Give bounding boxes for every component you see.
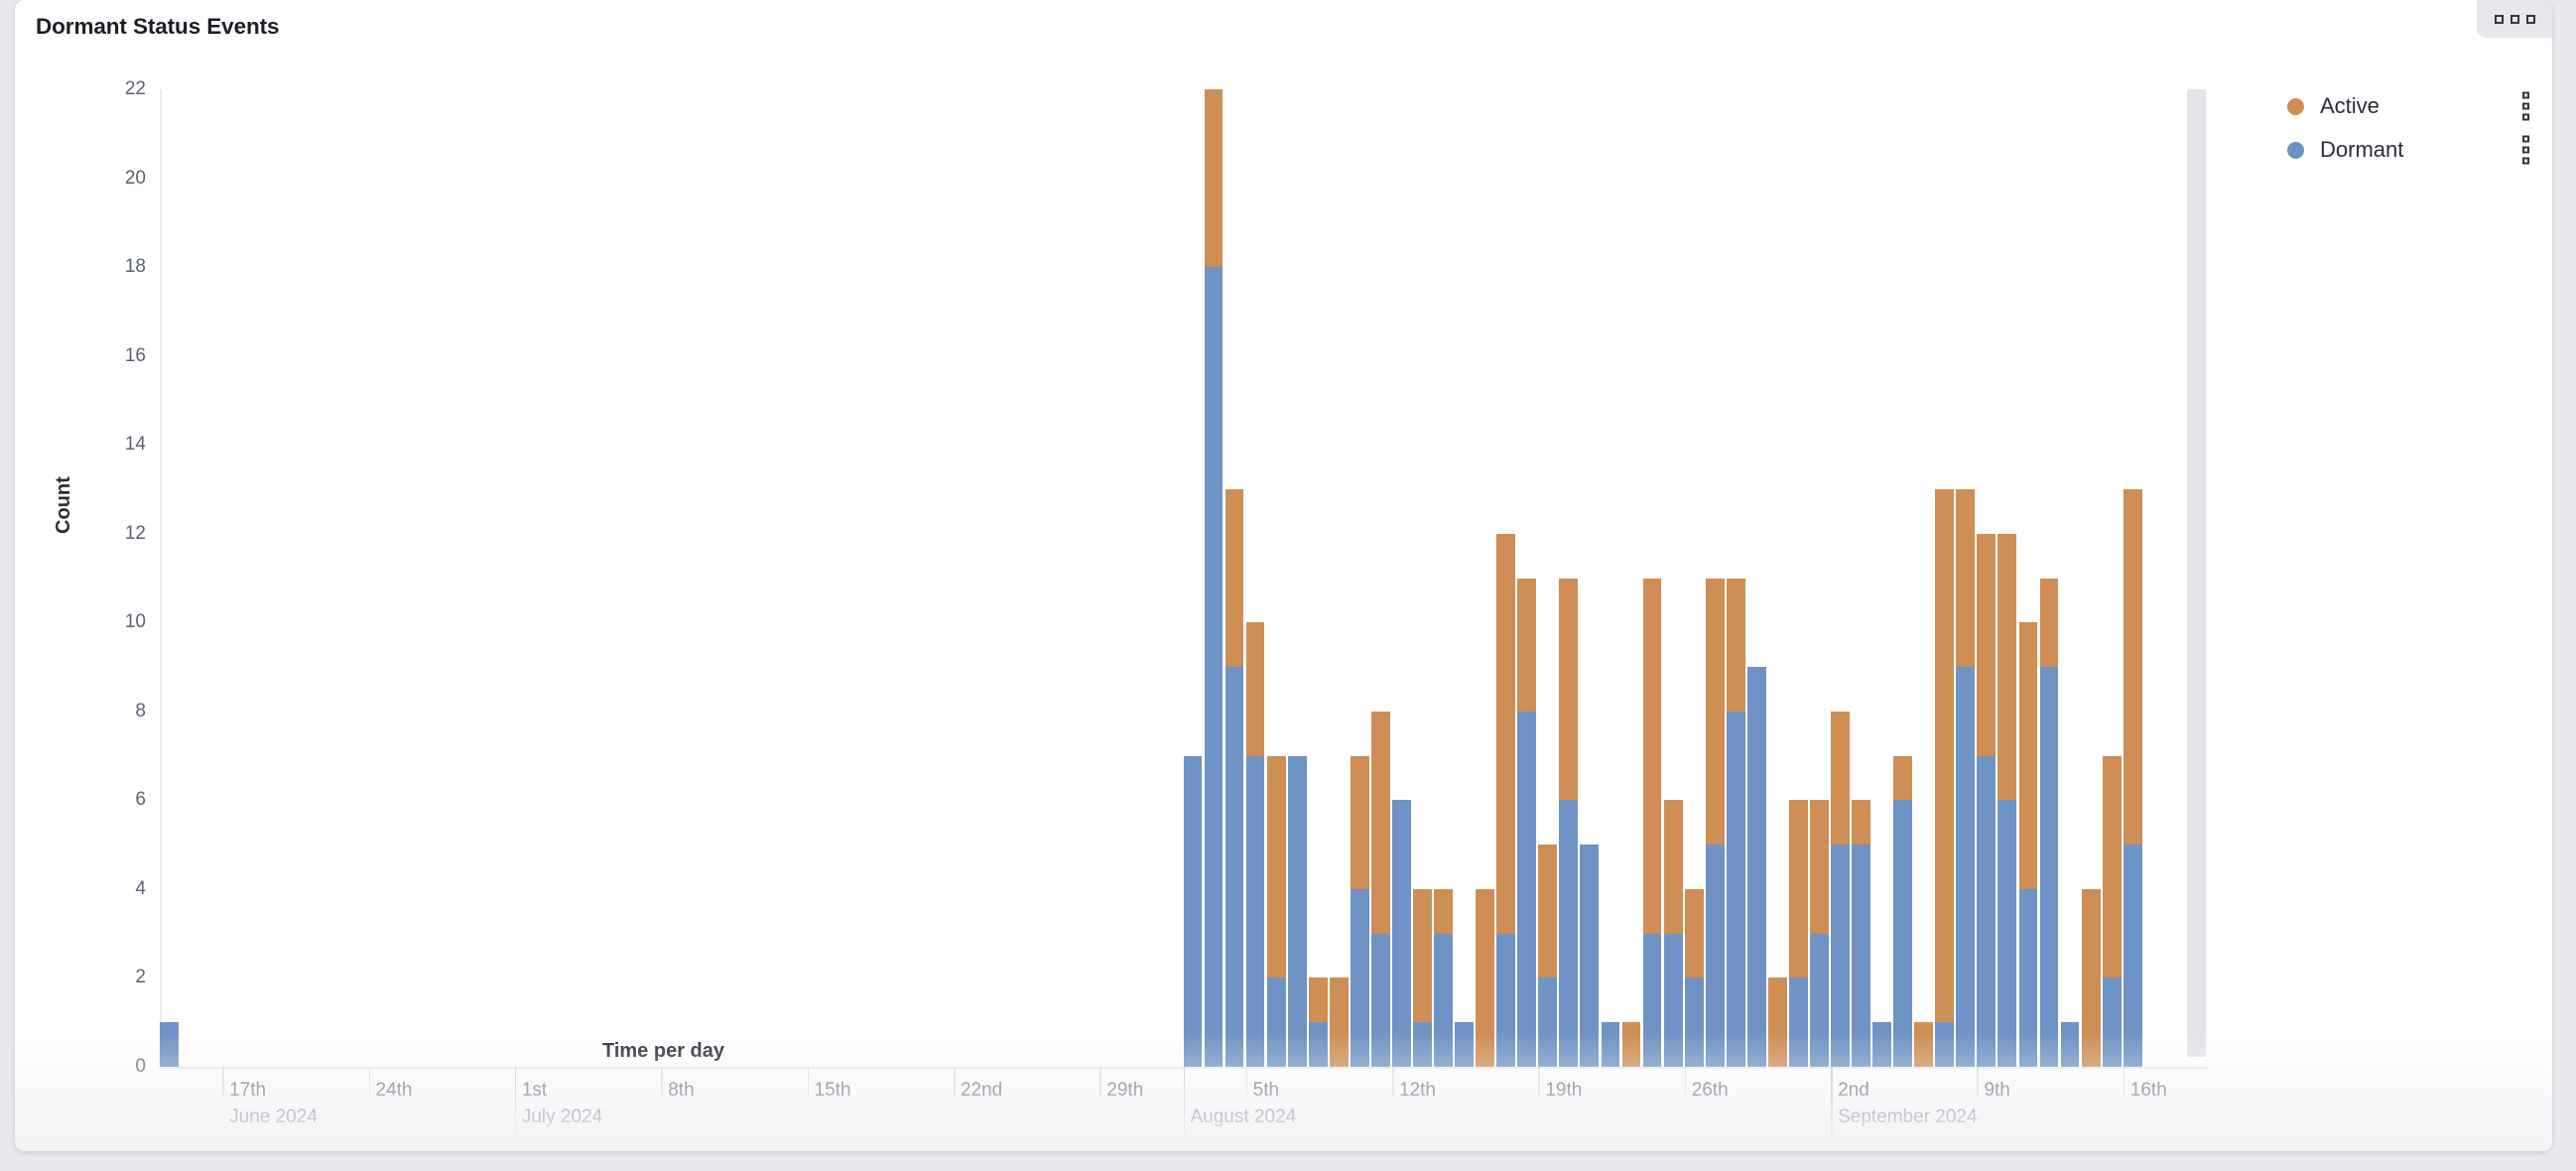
x-tick-month: September 2024 xyxy=(1838,1106,1978,1128)
bar-slot-59[interactable] xyxy=(1392,800,1411,1067)
bar-segment-dormant[interactable] xyxy=(1831,845,1850,1067)
bar-segment-dormant[interactable] xyxy=(1852,845,1870,1067)
page-title: Dormant Status Events xyxy=(36,14,279,40)
legend-item-dormant[interactable]: Dormant xyxy=(2287,128,2535,172)
tick-line xyxy=(661,1067,663,1097)
tick-line xyxy=(1538,1067,1540,1097)
bar-segment-active[interactable] xyxy=(2019,622,2038,889)
bar-slot-64[interactable] xyxy=(1496,534,1515,1067)
bar-segment-active[interactable] xyxy=(1413,889,1432,1022)
bar-slot-54[interactable] xyxy=(1288,756,1307,1067)
bar-segment-active[interactable] xyxy=(1205,89,1224,267)
bar-segment-dormant[interactable] xyxy=(1184,756,1203,1067)
bar-slot-87[interactable] xyxy=(1977,534,1996,1067)
grip-square-2 xyxy=(2511,15,2519,24)
legend-label-dormant: Dormant xyxy=(2320,137,2403,163)
bar-segment-active[interactable] xyxy=(1664,800,1683,933)
tick-line xyxy=(1392,1067,1394,1097)
tick-line xyxy=(1685,1067,1687,1097)
y-tick-10: 10 xyxy=(125,611,146,633)
y-tick-2: 2 xyxy=(135,967,146,988)
bar-slot-74[interactable] xyxy=(1706,579,1725,1068)
bar-segment-active[interactable] xyxy=(1643,579,1662,934)
y-tick-4: 4 xyxy=(135,878,146,900)
x-tick-month: June 2024 xyxy=(229,1106,318,1128)
bar-segment-active[interactable] xyxy=(1496,534,1515,934)
bar-segment-active[interactable] xyxy=(1935,489,1954,1022)
bar-segment-active[interactable] xyxy=(1706,579,1725,846)
x-tick-month: July 2024 xyxy=(522,1106,602,1128)
bar-segment-active[interactable] xyxy=(1225,489,1244,667)
plot-region: 0246810121416182022 17thJune 202424th1st… xyxy=(160,89,2207,1067)
dot-2 xyxy=(2522,103,2529,110)
bar-segment-dormant[interactable] xyxy=(1517,712,1536,1067)
x-tick-day: 8th xyxy=(668,1080,694,1102)
legend-color-dot-dormant xyxy=(2287,142,2304,159)
y-tick-6: 6 xyxy=(135,789,146,811)
x-tick-day: 29th xyxy=(1106,1080,1143,1102)
x-tick-day: 2nd xyxy=(1838,1080,1869,1102)
bar-segment-dormant[interactable] xyxy=(1977,756,1996,1067)
bar-slot-81[interactable] xyxy=(1852,800,1870,1067)
bar-slot-57[interactable] xyxy=(1351,756,1369,1067)
bar-segment-active[interactable] xyxy=(2103,756,2122,978)
bar-segment-active[interactable] xyxy=(1371,712,1390,934)
bar-segment-dormant[interactable] xyxy=(1747,667,1766,1067)
y-tick-8: 8 xyxy=(135,701,146,722)
bar-segment-active[interactable] xyxy=(1852,800,1870,845)
bar-segment-dormant[interactable] xyxy=(1893,800,1912,1067)
bar-segment-dormant[interactable] xyxy=(1956,667,1975,1067)
x-axis-ticks: 17thJune 202424th1stJuly 20248th15th22nd… xyxy=(160,1067,2207,1151)
bar-segment-dormant[interactable] xyxy=(1580,845,1599,1067)
legend-color-dot-active xyxy=(2287,98,2304,115)
bar-segment-active[interactable] xyxy=(1434,889,1453,934)
bar-segment-dormant[interactable] xyxy=(1246,756,1265,1067)
tick-line xyxy=(1977,1067,1979,1097)
bar-slot-76[interactable] xyxy=(1747,667,1766,1067)
bar-slot-50[interactable] xyxy=(1205,89,1224,1067)
tick-line xyxy=(954,1067,956,1097)
y-tick-16: 16 xyxy=(125,345,146,367)
bar-segment-active[interactable] xyxy=(2124,489,2142,845)
dot-1 xyxy=(2522,136,2529,143)
dot-3 xyxy=(2522,158,2529,165)
tick-line xyxy=(1184,1067,1186,1142)
x-tick-day: 5th xyxy=(1253,1080,1279,1102)
bar-slot-65[interactable] xyxy=(1517,579,1536,1068)
bar-slot-72[interactable] xyxy=(1664,800,1683,1067)
bar-slot-68[interactable] xyxy=(1580,845,1599,1067)
bar-segment-dormant[interactable] xyxy=(1288,756,1307,1067)
legend-menu-active-vertical-dots-icon[interactable] xyxy=(2522,92,2529,121)
x-tick-day: 17th xyxy=(229,1080,266,1102)
bar-segment-active[interactable] xyxy=(1831,712,1850,845)
bar-series-container xyxy=(160,89,2207,1067)
bar-slot-85[interactable] xyxy=(1935,489,1954,1067)
y-axis-label: Count xyxy=(53,476,75,534)
x-tick-day: 1st xyxy=(522,1080,547,1102)
bar-slot-58[interactable] xyxy=(1371,712,1390,1067)
dot-3 xyxy=(2522,114,2529,121)
legend-menu-dormant-vertical-dots-icon[interactable] xyxy=(2522,136,2529,165)
bar-segment-active[interactable] xyxy=(1538,845,1557,977)
legend-item-active[interactable]: Active xyxy=(2287,84,2535,128)
bar-slot-52[interactable] xyxy=(1246,622,1265,1067)
x-tick-day: 15th xyxy=(815,1080,851,1102)
x-tick-day: 16th xyxy=(2130,1080,2167,1102)
x-tick-day: 19th xyxy=(1545,1080,1582,1102)
plot-vertical-scrollbar[interactable] xyxy=(2187,89,2206,1057)
bar-segment-active[interactable] xyxy=(1267,756,1286,978)
bar-slot-67[interactable] xyxy=(1559,579,1578,1068)
y-tick-22: 22 xyxy=(125,78,146,100)
y-tick-20: 20 xyxy=(125,168,146,190)
legend: Active Dormant xyxy=(2287,84,2535,172)
grip-squares-icon[interactable] xyxy=(2477,0,2552,38)
dot-2 xyxy=(2522,147,2529,154)
x-axis-label-row: Time per day xyxy=(15,1040,2552,1063)
x-tick-day: 12th xyxy=(1399,1080,1436,1102)
dot-1 xyxy=(2522,92,2529,99)
y-tick-12: 12 xyxy=(125,523,146,545)
bar-segment-dormant[interactable] xyxy=(2124,845,2142,1067)
tick-line xyxy=(1099,1067,1101,1097)
bar-segment-active[interactable] xyxy=(1956,489,1975,667)
x-tick-day: 26th xyxy=(1692,1080,1729,1102)
bar-segment-active[interactable] xyxy=(1977,534,1996,756)
x-axis-label: Time per day xyxy=(602,1040,724,1062)
y-tick-18: 18 xyxy=(125,256,146,278)
legend-label-active: Active xyxy=(2320,93,2380,119)
bar-segment-active[interactable] xyxy=(1351,756,1369,889)
bar-segment-dormant[interactable] xyxy=(1727,712,1745,1067)
bar-segment-dormant[interactable] xyxy=(2040,667,2059,1067)
bar-slot-94[interactable] xyxy=(2124,489,2142,1067)
bar-segment-active[interactable] xyxy=(1727,579,1745,712)
x-tick-day: 9th xyxy=(1984,1080,2009,1102)
bar-slot-66[interactable] xyxy=(1538,845,1557,1067)
bar-slot-83[interactable] xyxy=(1893,756,1912,1067)
tick-line xyxy=(1246,1067,1248,1097)
x-tick-month: August 2024 xyxy=(1191,1106,1297,1128)
bar-slot-78[interactable] xyxy=(1789,800,1808,1067)
grip-square-3 xyxy=(2526,15,2535,24)
bar-slot-90[interactable] xyxy=(2040,579,2059,1068)
tick-line xyxy=(369,1067,371,1097)
bar-slot-51[interactable] xyxy=(1225,489,1244,1067)
tick-line xyxy=(1831,1067,1833,1142)
bar-segment-dormant[interactable] xyxy=(1205,267,1224,1067)
bar-slot-79[interactable] xyxy=(1810,800,1829,1067)
chart-panel: Dormant Status Events Count 024681012141… xyxy=(15,0,2552,1151)
bar-slot-53[interactable] xyxy=(1267,756,1286,1067)
bar-segment-active[interactable] xyxy=(1810,800,1829,933)
tick-line xyxy=(808,1067,810,1097)
bar-segment-active[interactable] xyxy=(1517,579,1536,712)
bar-segment-active[interactable] xyxy=(1559,579,1578,801)
y-tick-14: 14 xyxy=(125,434,146,455)
bar-slot-75[interactable] xyxy=(1727,579,1745,1068)
bar-segment-active[interactable] xyxy=(1789,800,1808,977)
bar-segment-active[interactable] xyxy=(1685,889,1704,978)
bar-segment-dormant[interactable] xyxy=(1225,667,1244,1067)
tick-line xyxy=(222,1067,224,1097)
plot-inner xyxy=(160,89,2207,1067)
bar-segment-dormant[interactable] xyxy=(1706,845,1725,1067)
bar-segment-active[interactable] xyxy=(2040,579,2059,668)
bar-slot-93[interactable] xyxy=(2103,756,2122,1067)
bar-slot-88[interactable] xyxy=(1997,534,2016,1067)
bar-segment-dormant[interactable] xyxy=(1559,800,1578,1067)
tick-line xyxy=(2124,1067,2125,1097)
screen-root: Dormant Status Events Count 024681012141… xyxy=(0,0,2576,1171)
x-tick-day: 22nd xyxy=(961,1080,1002,1102)
bar-segment-active[interactable] xyxy=(1309,977,1328,1022)
bar-slot-89[interactable] xyxy=(2019,622,2038,1067)
chart-area: Count 0246810121416182022 17thJune 20242… xyxy=(15,38,2552,1114)
tick-line xyxy=(515,1067,517,1142)
bar-segment-active[interactable] xyxy=(1997,534,2016,801)
bar-slot-86[interactable] xyxy=(1956,489,1975,1067)
bar-segment-active[interactable] xyxy=(1893,756,1912,801)
bar-slot-49[interactable] xyxy=(1184,756,1203,1067)
bar-slot-80[interactable] xyxy=(1831,712,1850,1067)
bar-slot-71[interactable] xyxy=(1643,579,1662,1068)
bar-segment-active[interactable] xyxy=(1246,622,1265,755)
grip-square-1 xyxy=(2495,15,2504,24)
bar-segment-dormant[interactable] xyxy=(1997,800,2016,1067)
x-tick-day: 24th xyxy=(376,1080,413,1102)
bar-segment-dormant[interactable] xyxy=(1392,800,1411,1067)
